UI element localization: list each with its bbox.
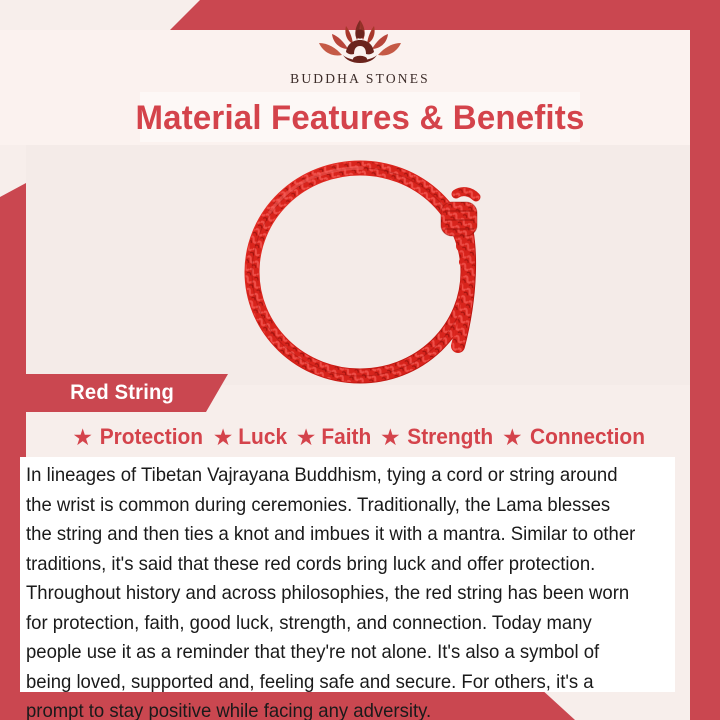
benefit-item: ★ Strength [380,424,495,450]
benefit-item: ★ Luck [213,424,289,450]
benefit-label: Faith [322,424,372,450]
benefit-item: ★ Faith [296,424,373,450]
star-icon: ★ [213,426,234,449]
benefit-label: Protection [100,424,203,450]
benefit-item: ★ Protection [72,424,205,450]
benefit-label: Luck [239,424,288,450]
lotus-meditation-icon [302,14,418,70]
product-image-red-string-bracelet [212,150,512,386]
brand-name: BUDDHA STONES [290,71,430,87]
benefit-label: Strength [407,424,493,450]
star-icon: ★ [380,426,401,449]
description-text: In lineages of Tibetan Vajrayana Buddhis… [26,461,639,720]
benefits-list: ★ Protection ★ Luck ★ Faith ★ Strength ★… [26,420,694,454]
benefit-label: Connection [530,424,645,450]
description-panel: In lineages of Tibetan Vajrayana Buddhis… [20,457,675,692]
page-title: Material Features & Benefits [11,96,709,140]
star-icon: ★ [296,426,317,449]
infographic-canvas: BUDDHA STONES Material Features & Benefi… [0,0,720,720]
brand-logo: BUDDHA STONES [0,14,720,92]
product-name-ribbon: Red String [20,374,228,412]
star-icon: ★ [502,426,523,449]
product-name-label: Red String [70,381,174,405]
benefit-item: ★ Connection [502,424,648,450]
star-icon: ★ [72,426,93,449]
